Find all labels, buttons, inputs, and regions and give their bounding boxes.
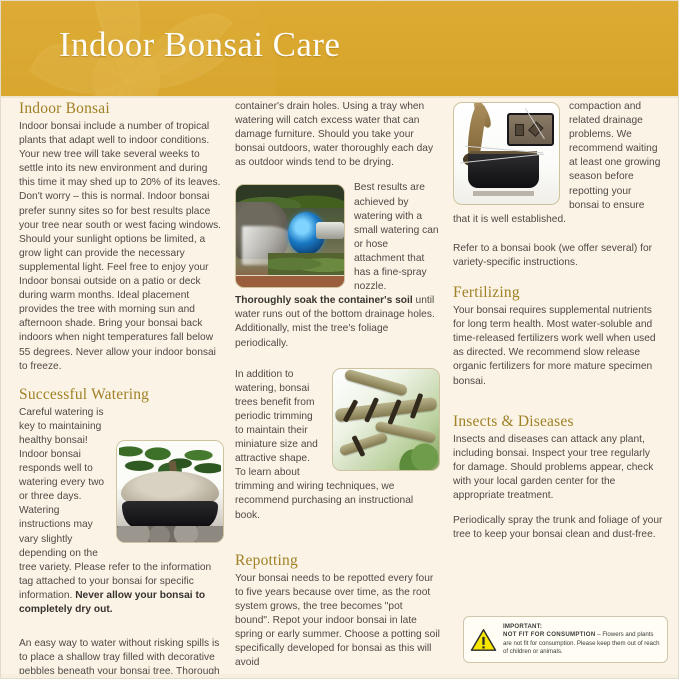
page-title: Indoor Bonsai Care [59, 25, 340, 65]
paragraph-pebble-tray: An easy way to water without risking spi… [19, 637, 224, 679]
bonsai-care-page: Indoor Bonsai Care Indoor Bonsai Indoor … [0, 0, 679, 679]
page-header: Indoor Bonsai Care [1, 1, 679, 98]
heading-indoor-bonsai: Indoor Bonsai [19, 100, 224, 118]
warning-line-1: IMPORTANT: [503, 623, 660, 631]
bonsai-in-oval-pot-photo [116, 440, 224, 543]
warning-text: IMPORTANT: NOT FIT FOR CONSUMPTION – Flo… [503, 623, 660, 655]
photo-inner [454, 103, 559, 204]
wired-bonsai-branch-photo [332, 368, 440, 471]
photo-inner [236, 185, 344, 287]
column-two: container's drain holes. Using a tray wh… [235, 100, 440, 670]
hose-nozzle-spraying-photo [235, 184, 345, 288]
warning-line-2-bold: NOT FIT FOR CONSUMPTION [503, 631, 596, 638]
heading-successful-watering: Successful Watering [19, 386, 224, 404]
paragraph-spray-trunk: Periodically spray the trunk and foliage… [453, 514, 664, 542]
heading-fertilizing: Fertilizing [453, 284, 664, 302]
column-one: Indoor Bonsai Indoor bonsai include a nu… [19, 100, 224, 679]
column-three: compaction and related drainage problems… [453, 100, 664, 542]
paragraph-best-results-text: Best results are achieved by watering wi… [354, 182, 439, 292]
heading-repotting: Repotting [235, 552, 440, 570]
paragraph-bonsai-book: Refer to a bonsai book (we offer several… [453, 242, 664, 270]
repotting-pot-drainage-photo [453, 102, 560, 205]
paragraph-best-results-emphasis: Thoroughly soak the container's soil [235, 295, 413, 306]
paragraph-insects: Insects and diseases can attack any plan… [453, 433, 664, 503]
photo-inner [117, 441, 223, 542]
paragraph-repotting: Your bonsai needs to be repotted every f… [235, 572, 440, 671]
warning-box: IMPORTANT: NOT FIT FOR CONSUMPTION – Flo… [463, 616, 668, 663]
warning-triangle-icon [470, 628, 497, 652]
page-bottom-edge [1, 674, 679, 678]
paragraph-drain-holes: container's drain holes. Using a tray wh… [235, 100, 440, 170]
photo-inner [333, 369, 439, 470]
paragraph-indoor-bonsai: Indoor bonsai include a number of tropic… [19, 120, 224, 374]
paragraph-fertilizing: Your bonsai requires supplemental nutrie… [453, 304, 664, 389]
content-area: Indoor Bonsai Indoor bonsai include a nu… [1, 100, 679, 679]
heading-insects-diseases: Insects & Diseases [453, 413, 664, 431]
